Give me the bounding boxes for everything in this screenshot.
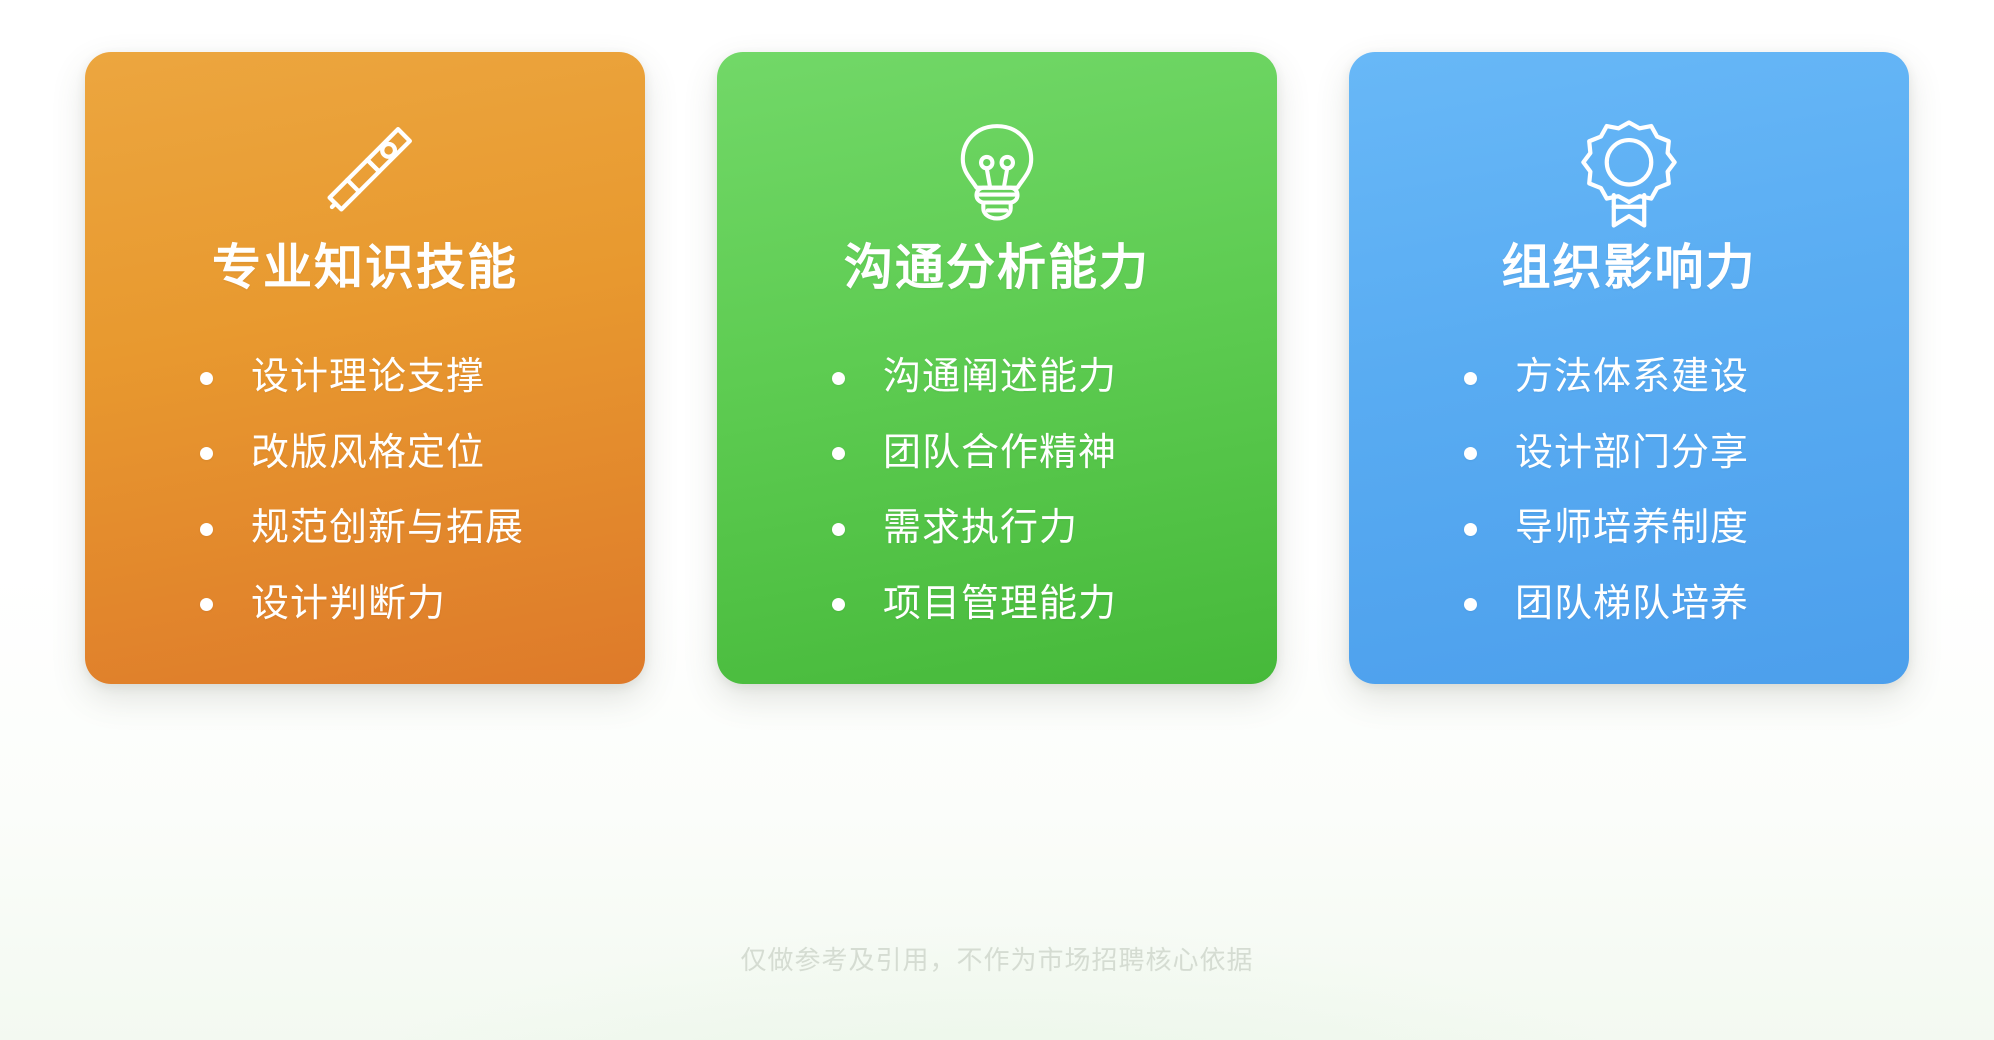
competency-cards-page: 专业知识技能 设计理论支撑 改版风格定位 规范创新与拓展 设计判断力 — [0, 0, 1994, 1040]
list-item: 规范创新与拓展 — [200, 505, 530, 553]
bullet-icon — [832, 523, 845, 536]
list-item-label: 设计判断力 — [251, 581, 446, 629]
list-item-label: 规范创新与拓展 — [251, 505, 524, 553]
list-item: 需求执行力 — [832, 505, 1162, 553]
list-item-label: 导师培养制度 — [1515, 505, 1749, 553]
list-item: 设计部门分享 — [1464, 430, 1794, 478]
list-item-label: 沟通阐述能力 — [883, 354, 1117, 402]
list-item-label: 设计理论支撑 — [251, 354, 485, 402]
bullet-icon — [832, 372, 845, 385]
card-title: 沟通分析能力 — [844, 240, 1150, 296]
list-item-label: 方法体系建设 — [1515, 354, 1749, 402]
bullet-icon — [200, 598, 213, 611]
footer-disclaimer: 仅做参考及引用，不作为市场招聘核心依据 — [0, 940, 1994, 977]
card-communication-analysis-ability[interactable]: 沟通分析能力 沟通阐述能力 团队合作精神 需求执行力 项目管理能力 — [717, 52, 1277, 684]
list-item-label: 改版风格定位 — [251, 430, 485, 478]
bullet-icon — [200, 447, 213, 460]
list-item-label: 团队合作精神 — [883, 430, 1117, 478]
award-badge-icon — [1574, 114, 1684, 234]
card-organizational-influence[interactable]: 组织影响力 方法体系建设 设计部门分享 导师培养制度 团队梯队培养 — [1349, 52, 1909, 684]
bullet-icon — [1464, 447, 1477, 460]
list-item: 设计判断力 — [200, 581, 530, 629]
competency-card-row: 专业知识技能 设计理论支撑 改版风格定位 规范创新与拓展 设计判断力 — [0, 52, 1994, 684]
bullet-icon — [832, 447, 845, 460]
list-item: 设计理论支撑 — [200, 354, 530, 402]
list-item: 方法体系建设 — [1464, 354, 1794, 402]
bullet-icon — [200, 372, 213, 385]
card-item-list: 方法体系建设 设计部门分享 导师培养制度 团队梯队培养 — [1349, 354, 1909, 628]
bullet-icon — [200, 523, 213, 536]
bullet-icon — [1464, 523, 1477, 536]
card-item-list: 设计理论支撑 改版风格定位 规范创新与拓展 设计判断力 — [85, 354, 645, 628]
lightbulb-icon — [945, 114, 1049, 234]
pen-nib-icon — [306, 114, 424, 234]
card-title: 专业知识技能 — [212, 240, 518, 296]
card-professional-knowledge-skills[interactable]: 专业知识技能 设计理论支撑 改版风格定位 规范创新与拓展 设计判断力 — [85, 52, 645, 684]
list-item-label: 项目管理能力 — [883, 581, 1117, 629]
card-title: 组织影响力 — [1501, 240, 1756, 296]
list-item: 改版风格定位 — [200, 430, 530, 478]
card-item-list: 沟通阐述能力 团队合作精神 需求执行力 项目管理能力 — [717, 354, 1277, 628]
list-item: 项目管理能力 — [832, 581, 1162, 629]
list-item: 团队梯队培养 — [1464, 581, 1794, 629]
bullet-icon — [832, 598, 845, 611]
list-item: 导师培养制度 — [1464, 505, 1794, 553]
list-item-label: 设计部门分享 — [1515, 430, 1749, 478]
bullet-icon — [1464, 598, 1477, 611]
bullet-icon — [1464, 372, 1477, 385]
list-item-label: 需求执行力 — [883, 505, 1078, 553]
list-item: 沟通阐述能力 — [832, 354, 1162, 402]
list-item-label: 团队梯队培养 — [1515, 581, 1749, 629]
list-item: 团队合作精神 — [832, 430, 1162, 478]
